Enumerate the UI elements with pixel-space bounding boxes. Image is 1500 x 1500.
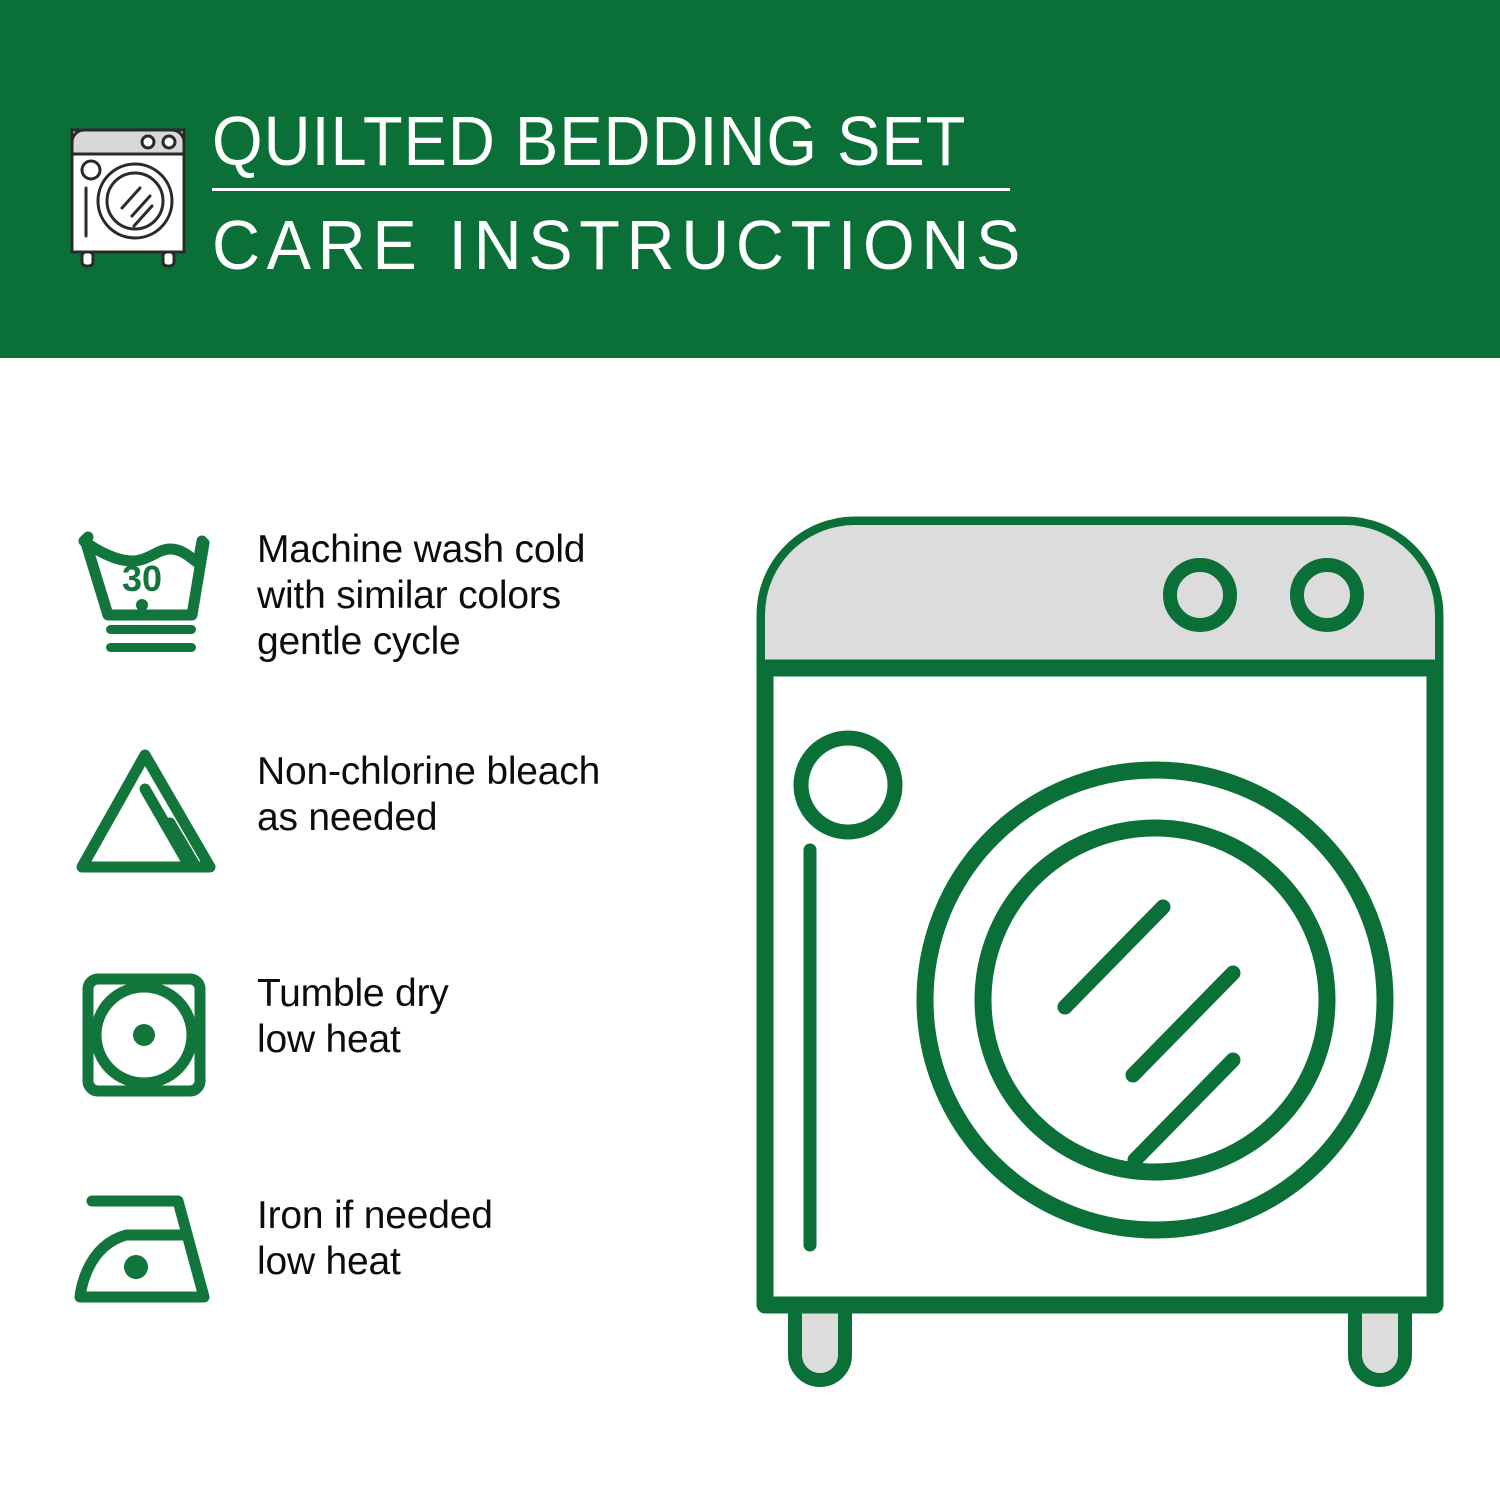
care-line: low heat	[257, 1239, 710, 1285]
knob-left	[1170, 565, 1230, 625]
care-line: as needed	[257, 795, 710, 841]
washing-machine-icon	[62, 108, 202, 268]
care-row-iron: Iron if needed low heat	[70, 1171, 710, 1393]
wash-temperature-label: 30	[122, 558, 162, 599]
non-chlorine-bleach-triangle-icon	[70, 727, 245, 881]
care-text-machine-wash: Machine wash cold with similar colors ge…	[245, 505, 710, 665]
care-line: low heat	[257, 1017, 710, 1063]
wash-tub-30-gentle-icon: 30	[70, 505, 245, 659]
front-load-washing-machine-illustration	[735, 495, 1455, 1425]
care-text-tumble-dry: Tumble dry low heat	[245, 949, 710, 1063]
knob-right	[1297, 565, 1357, 625]
care-line: Iron if needed	[257, 1193, 710, 1239]
care-line: Machine wash cold	[257, 527, 710, 573]
care-line: gentle cycle	[257, 619, 710, 665]
tumble-dry-low-icon	[70, 949, 245, 1103]
care-row-tumble-dry: Tumble dry low heat	[70, 949, 710, 1171]
care-line: Non-chlorine bleach	[257, 749, 710, 795]
care-line: Tumble dry	[257, 971, 710, 1017]
care-row-bleach: Non-chlorine bleach as needed	[70, 727, 710, 949]
drum-door-inner	[983, 828, 1327, 1172]
care-text-iron: Iron if needed low heat	[245, 1171, 710, 1285]
page-subtitle: CARE INSTRUCTIONS	[212, 205, 991, 285]
iron-low-heat-icon	[70, 1171, 245, 1325]
care-row-machine-wash: 30 Machine wash cold with similar colors…	[70, 505, 710, 727]
care-text-bleach: Non-chlorine bleach as needed	[245, 727, 710, 841]
header-banner: QUILTED BEDDING SET CARE INSTRUCTIONS	[0, 0, 1500, 358]
detergent-port	[801, 738, 895, 832]
care-line: with similar colors	[257, 573, 710, 619]
care-instructions-list: 30 Machine wash cold with similar colors…	[70, 505, 710, 1393]
page-title: QUILTED BEDDING SET	[212, 100, 975, 182]
header-divider	[212, 188, 1010, 191]
header-text-block: QUILTED BEDDING SET CARE INSTRUCTIONS	[212, 100, 1032, 285]
